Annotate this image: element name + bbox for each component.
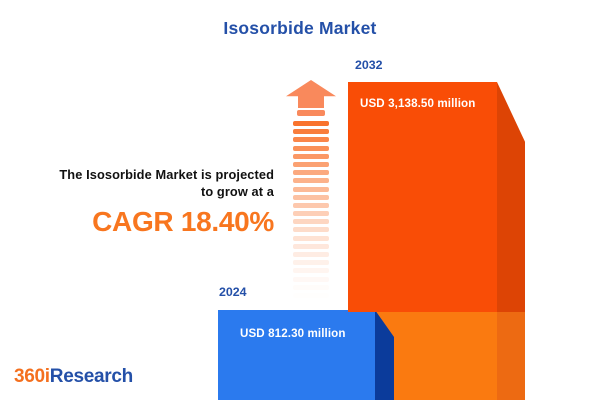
arrow-stripe — [293, 277, 329, 282]
arrow-stripe — [293, 236, 329, 241]
arrow-stripe — [293, 162, 329, 167]
brand-logo-prefix: 360i — [14, 366, 50, 387]
arrow-stripe — [293, 187, 329, 192]
brand-logo: 360iResearch — [14, 366, 133, 388]
bar-2032-side-face — [497, 82, 525, 312]
cagr-value: CAGR 18.40% — [18, 206, 274, 238]
arrow-stripe — [293, 285, 329, 290]
infographic-canvas: Isosorbide Market The Isosorbide Market … — [0, 0, 600, 400]
arrow-head-shape — [286, 80, 336, 108]
arrow-stripe — [293, 244, 329, 249]
arrow-stripe — [293, 137, 329, 142]
brand-logo-suffix: Research — [50, 366, 133, 387]
bar-2032-base-side-face — [497, 312, 525, 400]
arrow-stripe — [293, 301, 329, 306]
bar-2032-category-label: 2032 — [355, 58, 383, 72]
arrow-stripe — [293, 195, 329, 200]
bar-2024-front-face — [218, 310, 375, 400]
arrow-stripe — [293, 129, 329, 134]
arrow-stripe — [293, 203, 329, 208]
arrow-stripe — [293, 211, 329, 216]
arrow-stripe — [293, 170, 329, 175]
arrow-stripe — [293, 260, 329, 265]
page-title: Isosorbide Market — [0, 18, 600, 39]
cagr-callout: The Isosorbide Market is projected to gr… — [18, 166, 274, 238]
arrow-stripe — [293, 146, 329, 151]
arrow-stem-cap — [297, 110, 325, 116]
arrow-stripe — [293, 178, 329, 183]
arrow-stripe — [293, 121, 329, 126]
bar-2024-value-label: USD 812.30 million — [240, 327, 380, 340]
up-arrow-icon — [286, 80, 336, 298]
arrow-stripe — [293, 252, 329, 257]
arrow-stripe — [293, 268, 329, 273]
callout-line-1: The Isosorbide Market is projected — [18, 166, 274, 183]
bar-2024-category-label: 2024 — [219, 285, 247, 299]
arrow-stripe — [293, 219, 329, 224]
arrow-stripe — [293, 154, 329, 159]
arrow-stripe-stack — [293, 121, 329, 297]
bar-2032-front-face — [348, 82, 497, 312]
arrow-stripe — [293, 227, 329, 232]
bar-2032-value-label: USD 3,138.50 million — [360, 97, 500, 110]
arrow-stripe — [293, 293, 329, 298]
callout-line-2: to grow at a — [18, 183, 274, 200]
